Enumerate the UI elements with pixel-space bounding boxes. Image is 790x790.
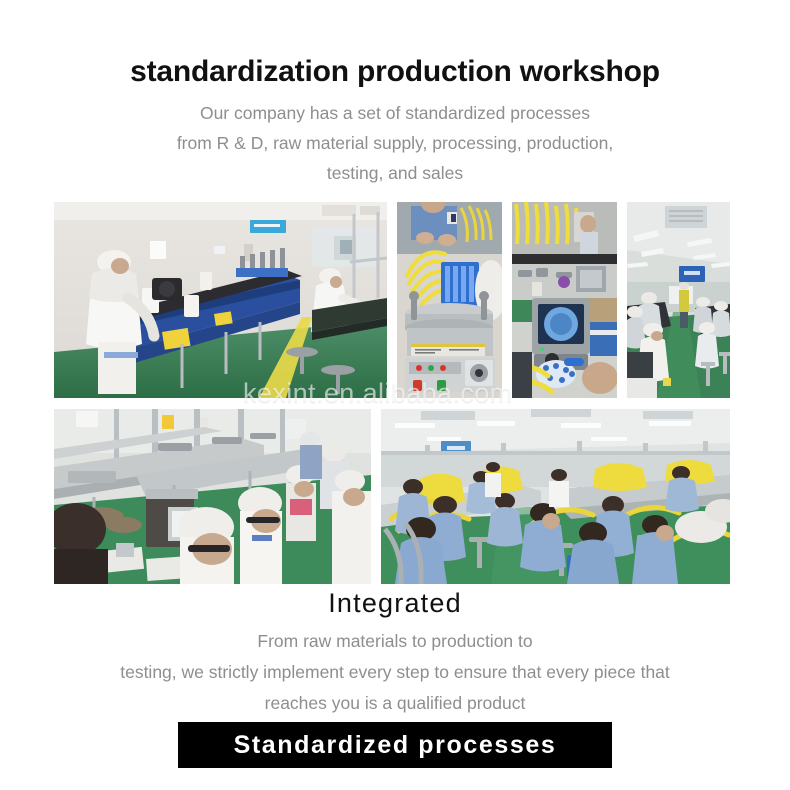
- photo-assembly-line-wide: [54, 202, 387, 398]
- standardized-processes-banner: Standardized processes: [178, 722, 612, 768]
- photo-patchcord-assembly-floor-art: [381, 409, 730, 584]
- photo-assembly-line-wide-art: [54, 202, 387, 398]
- worker-figure: [178, 507, 234, 584]
- worker-figure: [549, 469, 569, 507]
- header-subtitle-line-3: testing, and sales: [0, 158, 790, 188]
- page-title: standardization production workshop: [0, 56, 790, 88]
- photo-inspection-workstations-art: [54, 409, 371, 584]
- photo-production-hall-benches: [627, 202, 730, 398]
- banner-label: Standardized processes: [234, 731, 557, 760]
- lower-body-line-1: From raw materials to production to: [0, 626, 790, 657]
- header-section: standardization production workshop Our …: [0, 0, 790, 188]
- worker-figure: [238, 487, 282, 584]
- header-subtitle-line-1: Our company has a set of standardized pr…: [0, 98, 790, 128]
- header-subtitle-line-2: from R & D, raw material supply, process…: [0, 128, 790, 158]
- photo-fiber-polishing-monitor-art: [512, 202, 617, 398]
- photo-fiber-polishing-monitor: [512, 202, 617, 398]
- lower-body-line-2: testing, we strictly implement every ste…: [0, 657, 790, 688]
- worker-figure: [54, 503, 108, 584]
- photo-fiber-curing-oven: [397, 202, 502, 398]
- integrated-title: Integrated: [0, 586, 790, 620]
- photo-fiber-curing-oven-art: [397, 202, 502, 398]
- worker-figure: [300, 432, 322, 479]
- photo-gallery: [54, 202, 730, 584]
- promo-page: standardization production workshop Our …: [0, 0, 790, 790]
- gallery-row-top: [54, 202, 730, 398]
- header-subtitle: Our company has a set of standardized pr…: [0, 98, 790, 188]
- photo-patchcord-assembly-floor: [381, 409, 730, 584]
- lower-body: From raw materials to production to test…: [0, 626, 790, 719]
- photo-inspection-workstations: [54, 409, 371, 584]
- photo-production-hall-benches-art: [627, 202, 730, 398]
- lower-body-line-3: reaches you is a qualified product: [0, 688, 790, 719]
- gallery-row-bottom: [54, 409, 730, 584]
- worker-figure: [485, 462, 501, 497]
- lower-section: Integrated From raw materials to product…: [0, 586, 790, 719]
